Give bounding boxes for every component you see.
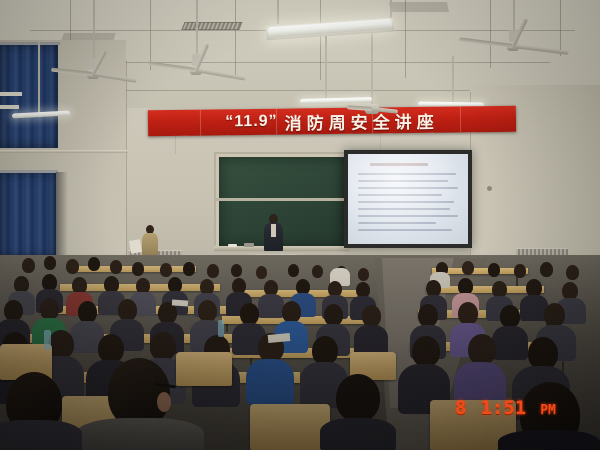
lecture-hall-photograph: “11.9” 消防周安全讲座 bbox=[0, 0, 600, 450]
event-banner: “11.9” 消防周安全讲座 bbox=[148, 106, 516, 136]
banner-date-text: “11.9” bbox=[225, 113, 277, 132]
timestamp-meridiem: PM bbox=[540, 403, 556, 418]
foreground-student-body-left bbox=[0, 420, 82, 450]
curtain-rail-upper bbox=[0, 42, 60, 45]
audience-head bbox=[22, 258, 35, 273]
audience-head bbox=[207, 264, 219, 278]
chalkboard-divider bbox=[216, 198, 348, 201]
audience-head bbox=[98, 334, 124, 363]
audience-head bbox=[132, 262, 144, 276]
audience-head bbox=[418, 304, 438, 327]
audience-head bbox=[258, 333, 284, 362]
audience-head bbox=[540, 262, 553, 277]
camera-timestamp: 8 1:51 PM bbox=[455, 397, 556, 419]
audience-head bbox=[468, 334, 496, 365]
audience-head bbox=[288, 264, 299, 277]
audience-head bbox=[40, 298, 59, 320]
projection-screen bbox=[344, 150, 472, 248]
light-rod-banner-left bbox=[325, 36, 327, 98]
audience-head bbox=[66, 259, 79, 274]
ceiling-vent-right bbox=[389, 2, 449, 12]
audience-head bbox=[110, 260, 122, 274]
audience-head bbox=[488, 263, 500, 277]
audience-head bbox=[240, 303, 259, 325]
audience-head bbox=[462, 261, 474, 275]
presenter-body bbox=[264, 223, 283, 251]
audience-head bbox=[458, 302, 478, 325]
audience-head bbox=[150, 332, 176, 361]
audience-head bbox=[362, 305, 381, 327]
audience-head bbox=[282, 301, 301, 323]
timestamp-day: 8 bbox=[455, 397, 466, 419]
audience-head bbox=[544, 303, 565, 327]
banner-title-text: 消防周安全讲座 bbox=[284, 107, 438, 134]
audience-head bbox=[324, 304, 343, 326]
chair-back bbox=[176, 352, 232, 386]
audience-head bbox=[312, 336, 338, 365]
chair-back bbox=[250, 404, 330, 450]
fan-rod-right bbox=[513, 0, 515, 34]
audience-head bbox=[198, 300, 217, 322]
audience-head bbox=[514, 264, 526, 278]
timestamp-time: 1:51 bbox=[480, 397, 526, 419]
window-curtain-lower bbox=[0, 172, 56, 258]
audience-head bbox=[88, 257, 100, 271]
audience-head bbox=[160, 263, 172, 277]
window-curtain-upper bbox=[0, 44, 58, 148]
audience-head bbox=[412, 336, 440, 367]
ceiling-grille-icon bbox=[181, 22, 242, 30]
audience-head bbox=[566, 265, 579, 280]
audience-head bbox=[231, 264, 242, 277]
fan-rod-center bbox=[196, 0, 198, 58]
audience-body bbox=[258, 294, 284, 318]
projection-screen-surface bbox=[348, 154, 468, 244]
audience-head bbox=[78, 301, 97, 323]
audience-head bbox=[158, 302, 177, 324]
fan-rod-left bbox=[93, 0, 95, 62]
audience-head bbox=[312, 265, 323, 278]
foreground-student-body-right bbox=[498, 430, 600, 450]
audience-body bbox=[492, 326, 528, 360]
foreground-student-body bbox=[76, 418, 204, 450]
audience-head bbox=[358, 268, 369, 281]
audience-head bbox=[44, 256, 56, 270]
audience-head bbox=[183, 262, 195, 276]
audience-head bbox=[500, 305, 520, 328]
audience-head bbox=[4, 300, 23, 321]
curtain-rail-lower bbox=[0, 170, 58, 173]
light-rod-a bbox=[277, 0, 279, 24]
audience-body-blue bbox=[246, 359, 294, 405]
fan-rod-banner bbox=[371, 30, 373, 106]
audience-head bbox=[118, 299, 137, 321]
light-rod-right bbox=[452, 56, 454, 104]
audience-body bbox=[320, 418, 396, 450]
audience-head bbox=[336, 374, 380, 422]
light-rod-left bbox=[38, 42, 40, 114]
audience-head bbox=[256, 266, 267, 279]
